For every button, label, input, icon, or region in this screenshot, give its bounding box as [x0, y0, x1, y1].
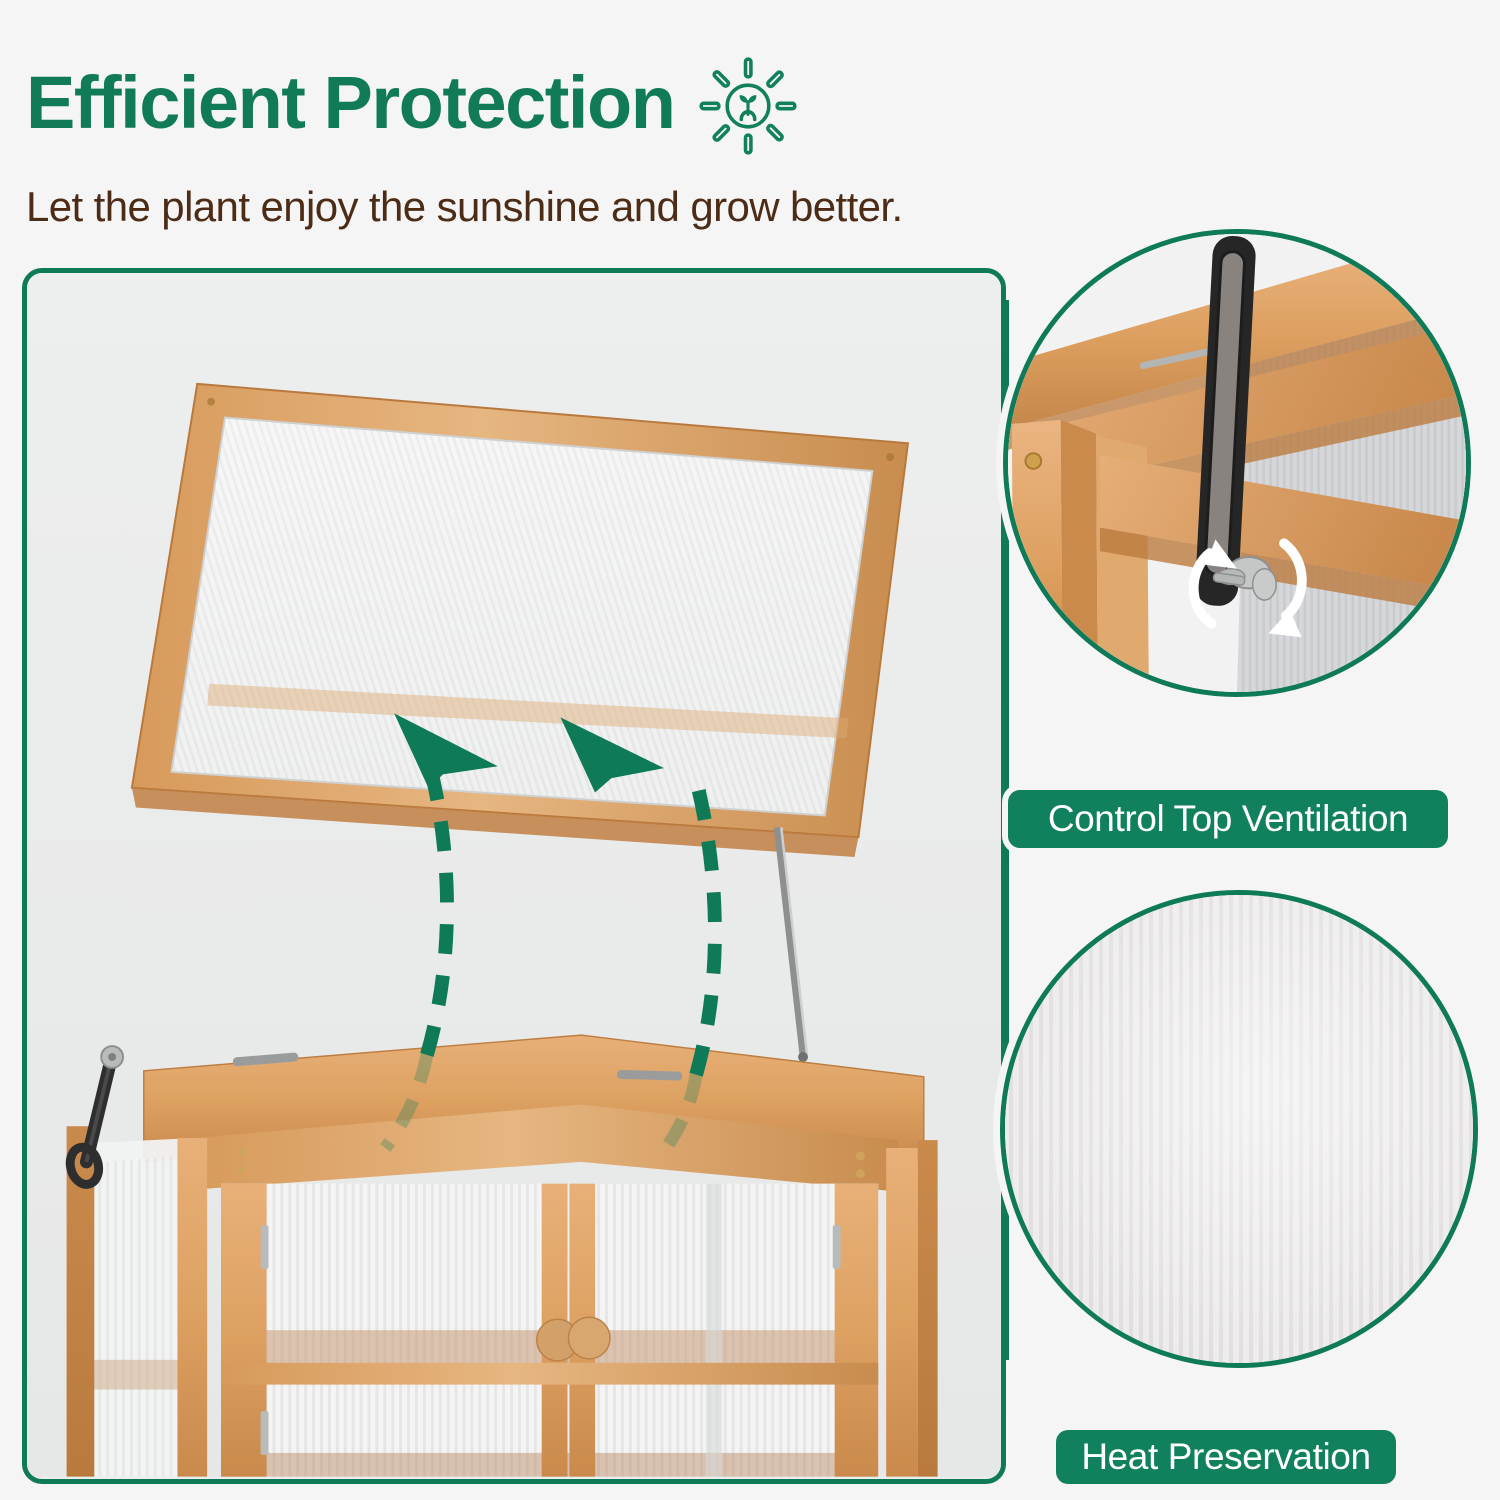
badge-control-top-ventilation: Control Top Ventilation — [1008, 790, 1448, 848]
title-row: Efficient Protection — [26, 48, 1026, 158]
page-subtitle: Let the plant enjoy the sunshine and gro… — [26, 184, 1026, 230]
badge-heat-preservation: Heat Preservation — [1056, 1430, 1396, 1484]
control-top-ventilation-closeup — [1003, 229, 1471, 697]
page-title: Efficient Protection — [26, 66, 674, 140]
sun-sprout-icon — [696, 54, 800, 158]
main-product-panel — [22, 268, 1006, 1484]
inset-ventilation — [1003, 229, 1471, 697]
header: Efficient Protection — [26, 48, 1026, 230]
infographic-page: Efficient Protection — [0, 0, 1500, 1500]
product-hero-photo — [27, 273, 1001, 1477]
inset-heat-preservation — [1000, 890, 1478, 1368]
heat-preservation-closeup — [1000, 890, 1478, 1368]
